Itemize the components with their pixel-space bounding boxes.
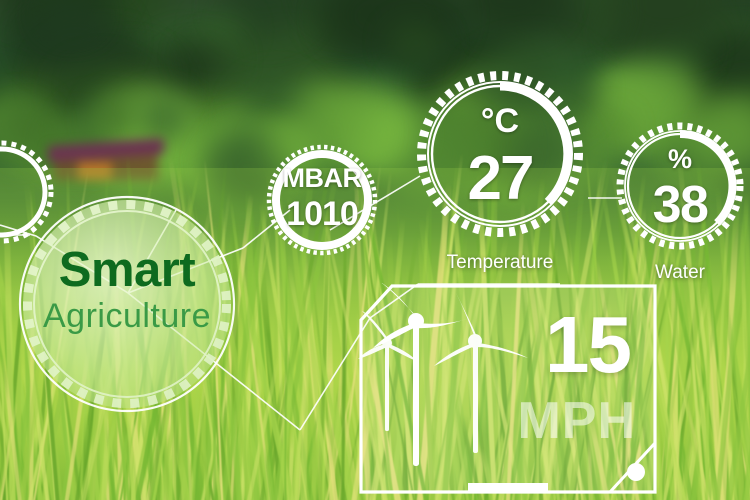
smart-agriculture-hub[interactable]: Smart Agriculture	[13, 190, 241, 418]
temperature-caption: Temperature	[447, 252, 554, 274]
status-dot-icon	[627, 463, 645, 481]
wind-speed-unit: MPH	[517, 395, 636, 447]
pressure-unit: MBAR	[265, 165, 379, 192]
wind-speed-value: 15	[545, 305, 630, 385]
water-value: 38	[613, 179, 747, 231]
water-caption: Water	[655, 262, 705, 284]
dashboard-scene: Smart Agriculture MBAR 1010 °C 27 Temper…	[0, 0, 750, 500]
wind-speed-panel[interactable]: 15 MPH	[358, 283, 658, 495]
panel-bottom-tab	[468, 483, 548, 492]
gauge-pressure[interactable]: MBAR 1010	[265, 143, 379, 257]
gauge-temperature[interactable]: °C 27 Temperature	[412, 66, 588, 242]
water-unit: %	[613, 146, 747, 173]
hub-title-primary: Smart	[13, 242, 241, 298]
pressure-value: 1010	[265, 197, 379, 231]
temperature-value: 27	[412, 148, 588, 210]
gauge-water[interactable]: % 38 Water	[613, 119, 747, 253]
hub-title-secondary: Agriculture	[13, 297, 241, 336]
temperature-unit: °C	[412, 104, 588, 138]
